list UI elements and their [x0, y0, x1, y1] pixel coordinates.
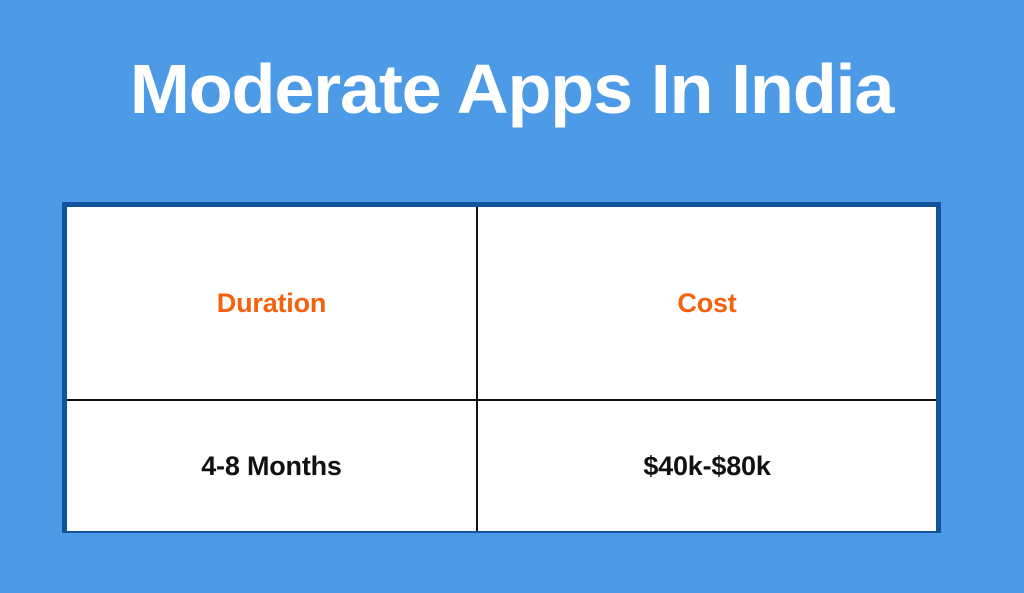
comparison-table-frame: Duration Cost 4-8 Months $40k-$80k	[62, 202, 941, 533]
table-header-row: Duration Cost	[67, 207, 936, 400]
table-cell-cost-value: $40k-$80k	[477, 400, 936, 531]
table-cell-duration-value: 4-8 Months	[67, 400, 477, 531]
table-header-label-duration: Duration	[67, 290, 476, 317]
table-header-label-cost: Cost	[478, 290, 936, 317]
table-row: 4-8 Months $40k-$80k	[67, 400, 936, 531]
page-title-container: Moderate Apps In India	[0, 52, 1024, 128]
cost-value: $40k-$80k	[478, 453, 936, 480]
table-header-cell-duration: Duration	[67, 207, 477, 400]
comparison-table: Duration Cost 4-8 Months $40k-$80k	[67, 207, 936, 531]
page-title: Moderate Apps In India	[130, 52, 893, 128]
duration-value: 4-8 Months	[67, 453, 476, 480]
table-header-cell-cost: Cost	[477, 207, 936, 400]
